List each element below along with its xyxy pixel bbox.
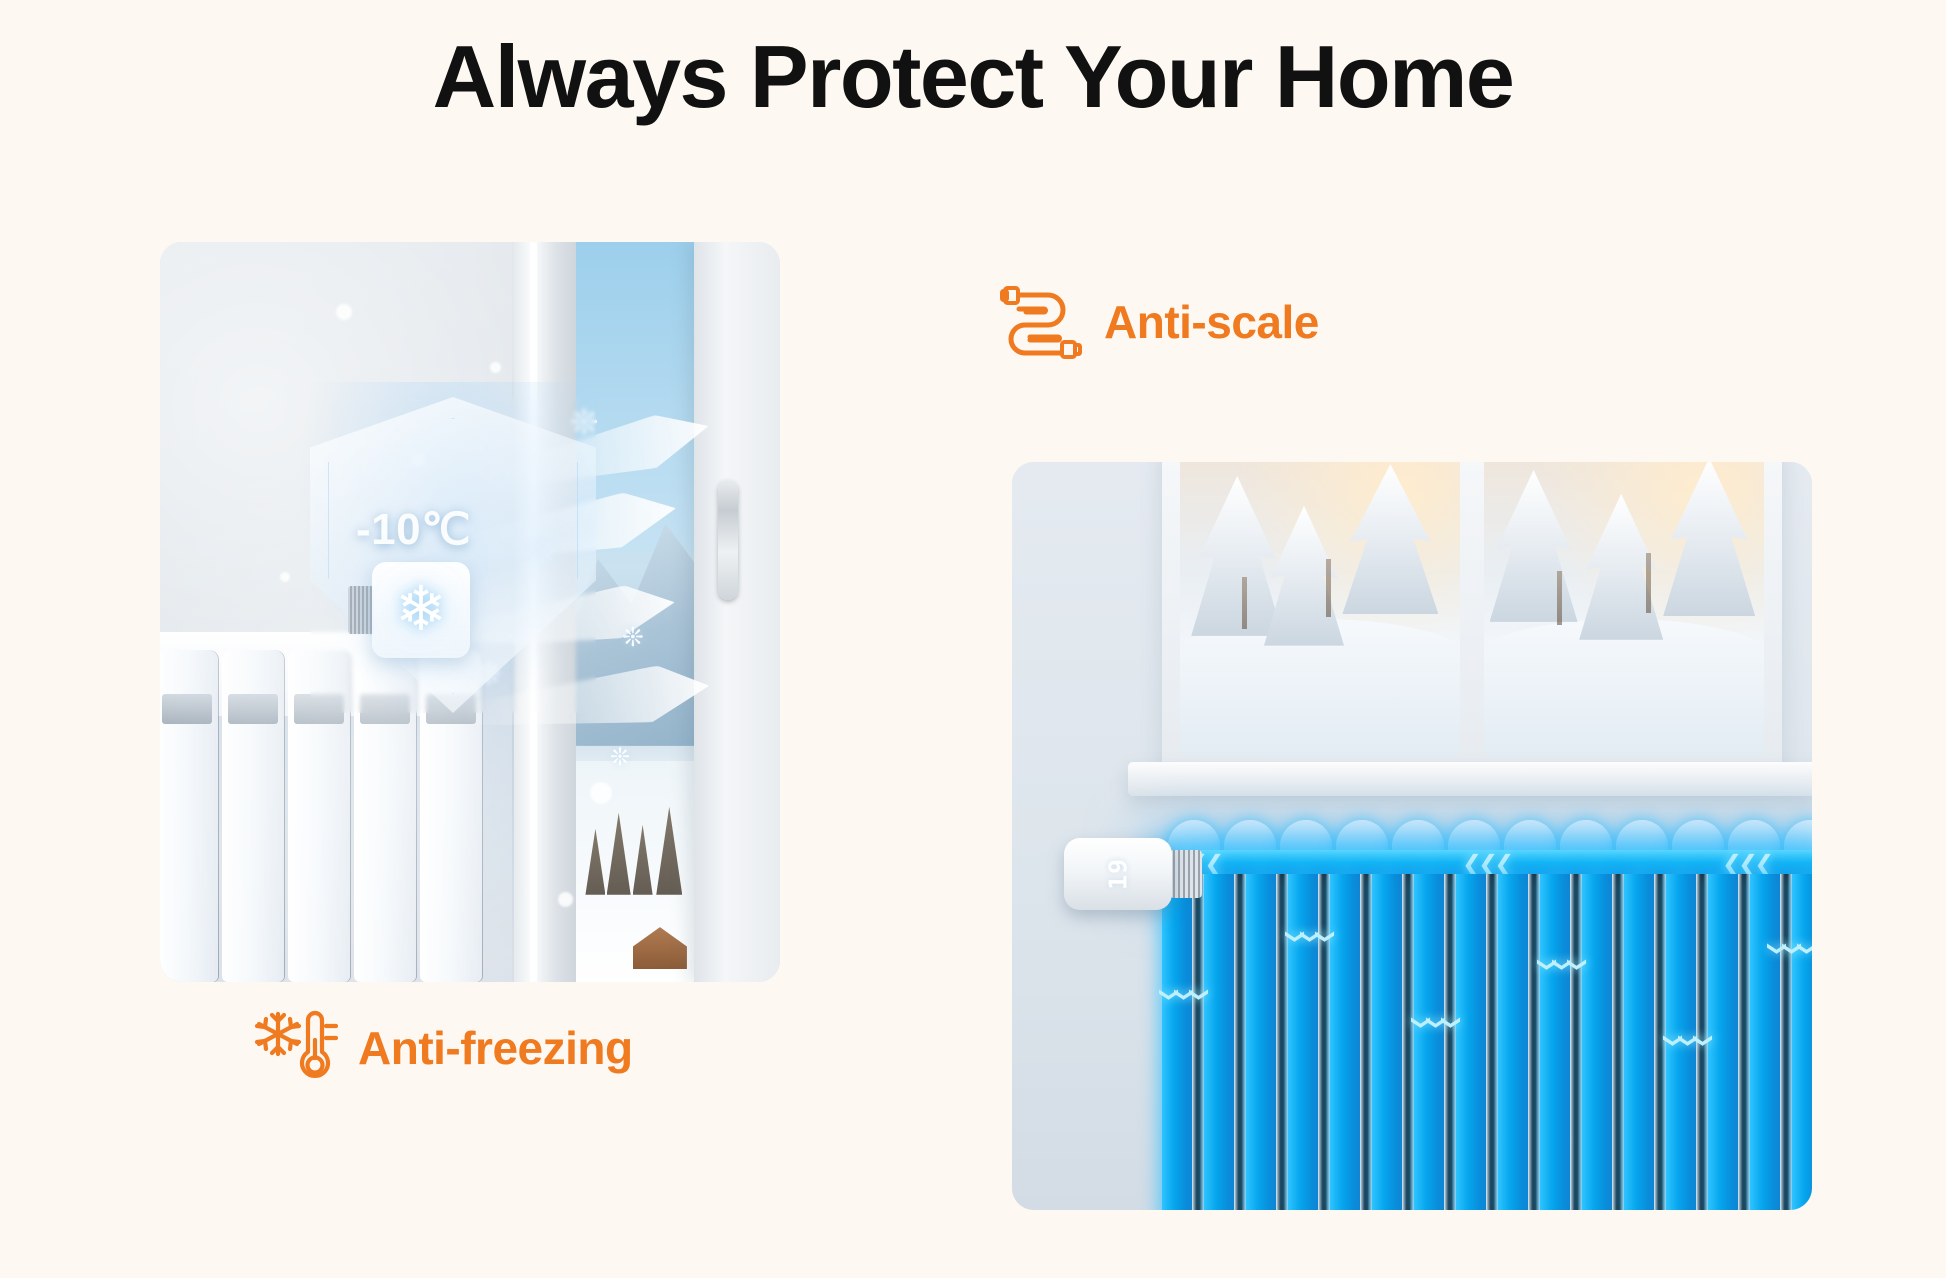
radiator-gap xyxy=(1738,874,1750,1210)
radiator-gap xyxy=(1528,874,1540,1210)
radiator-gap xyxy=(1402,874,1414,1210)
radiator-gap xyxy=(1612,874,1624,1210)
radiator-gap xyxy=(1234,874,1246,1210)
radiator-gap xyxy=(1192,874,1204,1210)
radiator-gap xyxy=(1444,874,1456,1210)
flow-chevrons: ❮❮❮ xyxy=(1722,852,1770,876)
radiator-fin xyxy=(1708,874,1738,1210)
radiator-gap xyxy=(1360,874,1372,1210)
window-pane-right xyxy=(1484,462,1764,756)
window-sill xyxy=(1128,762,1812,796)
radiator-fin xyxy=(1246,874,1276,1210)
window-frame xyxy=(1162,462,1782,772)
flow-chevrons-down: ❮❮❮ xyxy=(1413,1010,1458,1036)
radiator-fin xyxy=(1330,874,1360,1210)
radiator-fin xyxy=(222,650,284,982)
flow-chevrons-down: ❮❮❮ xyxy=(1287,924,1332,950)
thermostatic-valve: ❄ xyxy=(372,562,470,658)
white-radiator xyxy=(160,632,452,982)
radiator-fin xyxy=(1792,874,1812,1210)
radiator-fin xyxy=(288,650,350,982)
door-handle[interactable] xyxy=(718,480,738,600)
radiator-fin xyxy=(1498,874,1528,1210)
radiator-fin xyxy=(1540,874,1570,1210)
flow-chevrons-down: ❮❮❮ xyxy=(1539,952,1584,978)
flow-chevrons-down: ❮❮❮ xyxy=(1769,936,1813,962)
radiator-fin xyxy=(1456,874,1486,1210)
coiled-pipe-icon xyxy=(1000,282,1084,362)
valve-display: 19 xyxy=(1104,858,1133,890)
flow-chevrons-down: ❮❮❮ xyxy=(1161,982,1206,1008)
door-panel xyxy=(694,242,780,982)
feature-label-text: Anti-freezing xyxy=(358,1021,633,1075)
feature-label-text: Anti-scale xyxy=(1104,295,1319,349)
smart-radiator-valve[interactable]: 19 xyxy=(1064,838,1172,910)
radiator-fin xyxy=(1414,874,1444,1210)
tree-trunk xyxy=(1326,559,1331,617)
radiator-fin xyxy=(160,650,218,982)
feature-anti-freezing: Anti-freezing xyxy=(252,1010,633,1086)
radiator-fin xyxy=(354,650,416,982)
marketing-banner: Always Protect Your Home xyxy=(0,0,1946,1278)
page-title: Always Protect Your Home xyxy=(0,28,1946,127)
temperature-label: -10℃ xyxy=(356,504,471,555)
feature-anti-scale: Anti-scale xyxy=(1000,282,1319,362)
window-pane-left xyxy=(1180,462,1460,756)
radiator-fin xyxy=(1624,874,1654,1210)
tree-trunk xyxy=(1646,553,1651,613)
radiator-fin xyxy=(1204,874,1234,1210)
radiator-gap xyxy=(1570,874,1582,1210)
anti-freezing-photo-card: ❊ ❊ ❊ ❊ ❊ -10℃ ❄ xyxy=(160,242,780,982)
window-glass xyxy=(576,242,694,982)
snowflake-thermometer-icon xyxy=(252,1010,338,1086)
flow-chevrons: ❮❮❮ xyxy=(1462,852,1510,876)
anti-scale-photo-card: ❮❮❮ ❮❮❮ ❮❮❮ xyxy=(1012,462,1812,1210)
snowflake-icon: ❄ xyxy=(395,579,447,641)
radiator-fin xyxy=(1750,874,1780,1210)
flow-chevrons-down: ❮❮❮ xyxy=(1665,1028,1710,1054)
valve-nut xyxy=(1170,850,1202,898)
radiator-fin xyxy=(1162,874,1192,1210)
radiator-gap xyxy=(1486,874,1498,1210)
radiator-fin xyxy=(1372,874,1402,1210)
tree-trunk xyxy=(1242,577,1247,629)
radiator-gap xyxy=(1780,874,1792,1210)
valve-stem xyxy=(348,586,374,634)
tree-trunk xyxy=(1557,571,1562,625)
radiator-fin xyxy=(1582,874,1612,1210)
glowing-radiator: ❮❮❮ ❮❮❮ ❮❮❮ xyxy=(1162,822,1812,1210)
